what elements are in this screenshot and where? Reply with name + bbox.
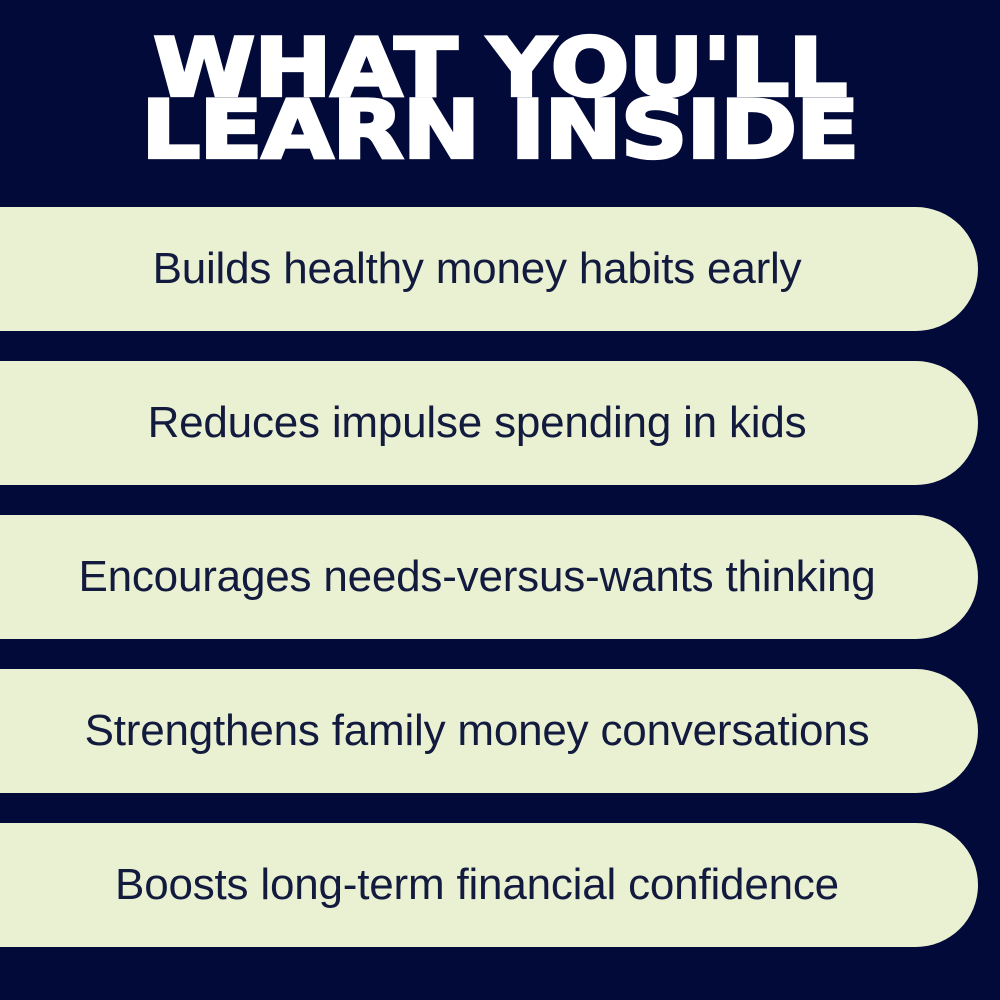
list-item: Boosts long-term financial confidence [0,823,978,947]
benefit-label-5: Boosts long-term financial confidence [115,861,839,909]
benefits-list: Builds healthy money habits early Reduce… [0,207,1000,947]
list-item: Reduces impulse spending in kids [0,361,978,485]
list-item: Strengthens family money conversations [0,669,978,793]
poster-canvas: WHAT YOU'LL LEARN INSIDE Builds healthy … [0,0,1000,1000]
benefit-label-1: Builds healthy money habits early [153,245,802,293]
benefit-label-4: Strengthens family money conversations [85,707,870,755]
page-title-line-2: LEARN INSIDE [0,98,1000,161]
list-item: Encourages needs-versus-wants thinking [0,515,978,639]
list-item: Builds healthy money habits early [0,207,978,331]
page-title: WHAT YOU'LL LEARN INSIDE [0,36,1000,154]
benefit-label-2: Reduces impulse spending in kids [148,399,807,447]
benefit-label-3: Encourages needs-versus-wants thinking [78,553,875,601]
